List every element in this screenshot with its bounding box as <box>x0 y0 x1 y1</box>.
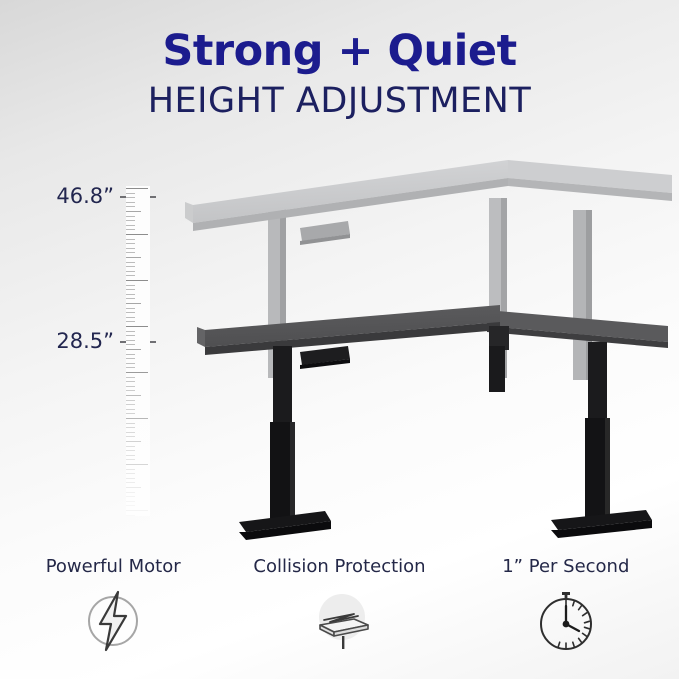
feature-label-collision-protection: Collision Protection <box>253 558 425 576</box>
stopwatch-icon <box>529 584 603 658</box>
lowered-leg-left <box>239 346 331 540</box>
lowered-desktop-main <box>197 305 500 355</box>
collision-desk-icon <box>302 584 376 658</box>
lowered-desk-group <box>197 305 668 540</box>
lowered-leg-corner <box>489 346 505 392</box>
feature-speed: 1” Per Second <box>453 558 679 679</box>
feature-collision-protection: Collision Protection <box>226 558 452 679</box>
lowered-leg-right <box>551 342 652 538</box>
heading-block: Strong + Quiet HEIGHT ADJUSTMENT <box>0 30 679 119</box>
feature-powerful-motor: Powerful Motor <box>0 558 226 679</box>
feature-row: Powerful Motor Collision Protection <box>0 558 679 679</box>
page-title: Strong + Quiet <box>0 30 679 73</box>
raised-desktop-return <box>508 160 672 201</box>
desk-illustration <box>0 140 679 560</box>
page-subtitle: HEIGHT ADJUSTMENT <box>0 84 679 119</box>
raised-desk-control-panel <box>300 221 350 245</box>
lowered-desk-control-panel <box>300 346 350 369</box>
raised-desktop-main <box>185 160 508 231</box>
feature-label-speed: 1” Per Second <box>502 558 629 576</box>
lightning-bolt-icon <box>76 584 150 658</box>
infographic-canvas: Strong + Quiet HEIGHT ADJUSTMENT 46.8” 2… <box>0 0 679 679</box>
feature-label-powerful-motor: Powerful Motor <box>46 558 181 576</box>
